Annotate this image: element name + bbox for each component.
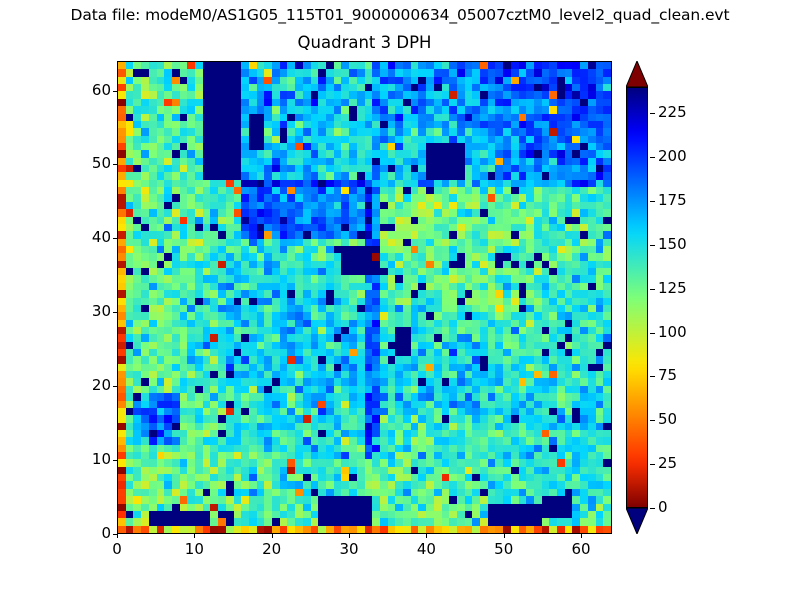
y-tick	[113, 386, 117, 387]
colorbar-tick	[650, 464, 655, 465]
colorbar-tick	[650, 157, 655, 158]
colorbar-tick	[650, 201, 655, 202]
colorbar-tick-label: 100	[658, 323, 687, 341]
x-tick-label: 0	[87, 540, 147, 558]
colorbar-tick	[650, 376, 655, 377]
colorbar: 0255075100125150175200225	[626, 61, 648, 534]
colorbar-tick	[650, 289, 655, 290]
x-tick	[349, 534, 350, 538]
x-tick-label: 10	[164, 540, 224, 558]
y-tick-label: 0	[51, 524, 111, 542]
data-file-caption: Data file: modeM0/AS1G05_115T01_90000006…	[0, 6, 800, 24]
y-tick	[113, 238, 117, 239]
colorbar-tick	[650, 333, 655, 334]
plot-title: Quadrant 3 DPH	[117, 33, 612, 52]
matplotlib-figure: Data file: modeM0/AS1G05_115T01_90000006…	[0, 0, 800, 600]
x-tick	[272, 534, 273, 538]
colorbar-tick-label: 225	[658, 103, 687, 121]
colorbar-extend-min-icon	[626, 508, 648, 534]
x-tick	[504, 534, 505, 538]
colorbar-tick-label: 50	[658, 410, 677, 428]
colorbar-tick	[650, 420, 655, 421]
x-tick	[117, 534, 118, 538]
y-tick	[113, 534, 117, 535]
colorbar-tick-label: 150	[658, 235, 687, 253]
colorbar-tick-label: 0	[658, 498, 668, 516]
x-tick-label: 30	[319, 540, 379, 558]
x-tick-label: 50	[474, 540, 534, 558]
y-tick-label: 10	[51, 450, 111, 468]
colorbar-tick-label: 75	[658, 366, 677, 384]
x-tick	[194, 534, 195, 538]
y-tick-label: 50	[51, 154, 111, 172]
x-tick-label: 20	[242, 540, 302, 558]
x-tick	[426, 534, 427, 538]
y-tick	[113, 164, 117, 165]
colorbar-tick-label: 175	[658, 191, 687, 209]
y-tick-label: 20	[51, 376, 111, 394]
x-tick	[581, 534, 582, 538]
colorbar-tick-label: 25	[658, 454, 677, 472]
y-tick	[113, 312, 117, 313]
colorbar-gradient	[626, 87, 648, 508]
colorbar-tick-label: 200	[658, 147, 687, 165]
colorbar-tick	[650, 508, 655, 509]
colorbar-tick	[650, 113, 655, 114]
y-tick-label: 40	[51, 228, 111, 246]
colorbar-tick-label: 125	[658, 279, 687, 297]
x-tick-label: 40	[396, 540, 456, 558]
y-tick	[113, 91, 117, 92]
y-tick	[113, 460, 117, 461]
colorbar-tick	[650, 245, 655, 246]
y-tick-label: 30	[51, 302, 111, 320]
colorbar-extend-max-icon	[626, 61, 648, 87]
heatmap-axes	[117, 61, 612, 534]
heatmap-grid	[118, 62, 611, 533]
y-tick-label: 60	[51, 81, 111, 99]
x-tick-label: 60	[551, 540, 611, 558]
